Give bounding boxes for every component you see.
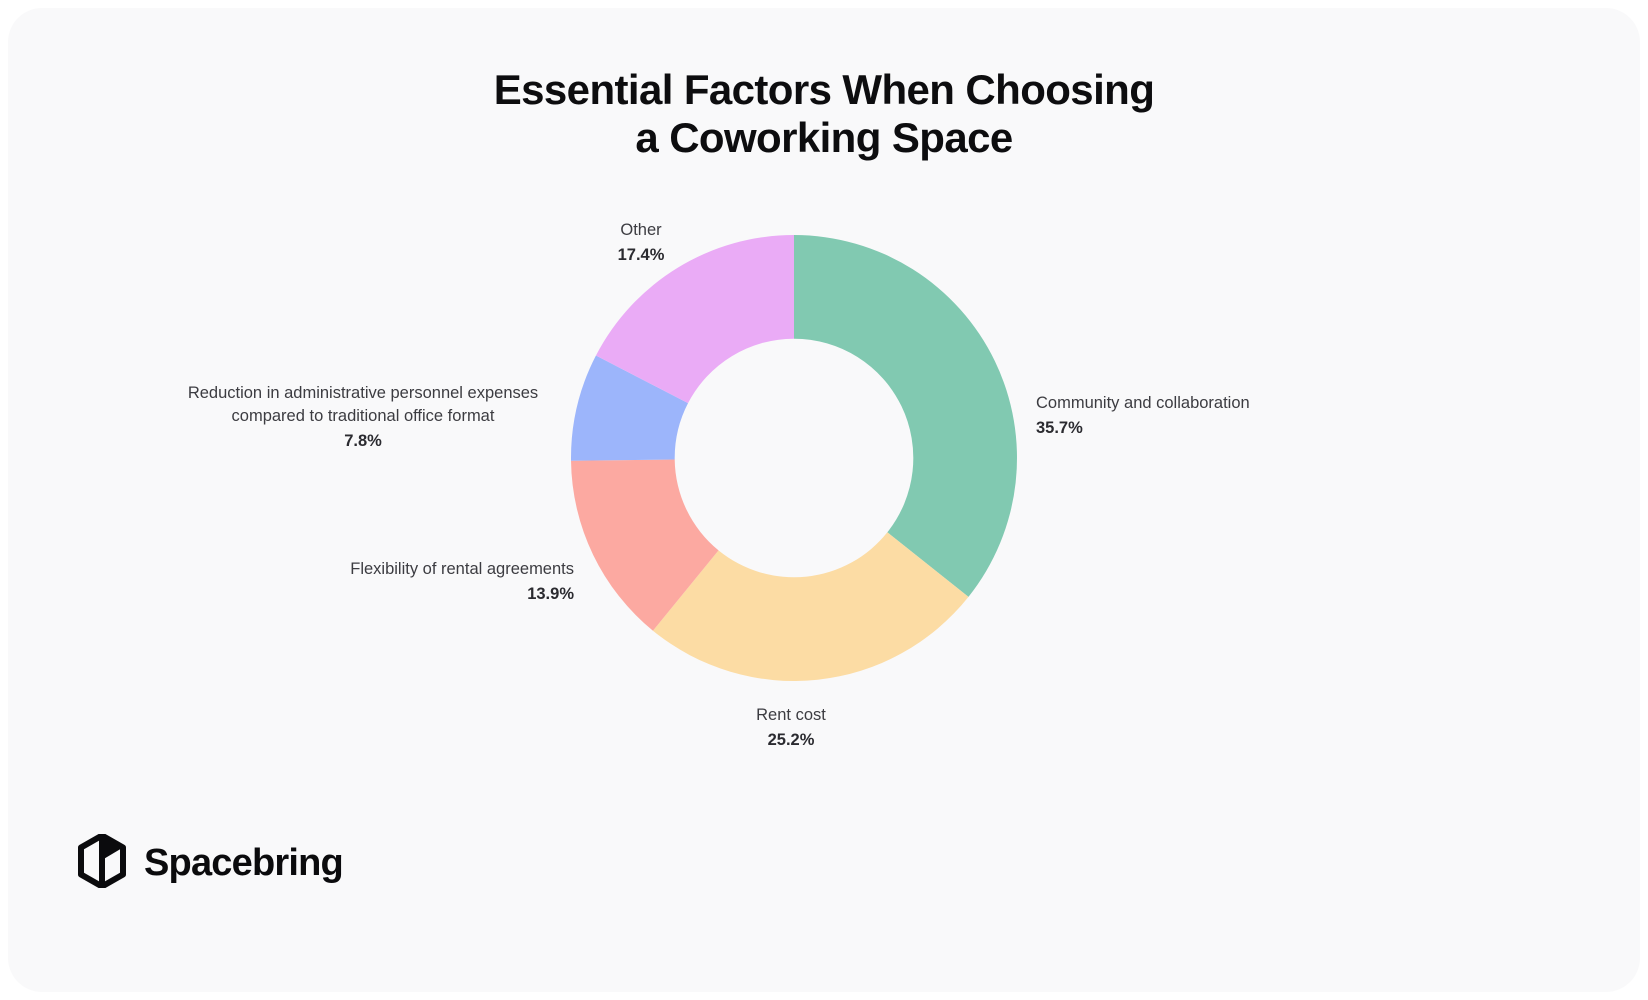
slice-label-rent-name: Rent cost: [660, 704, 922, 727]
slice-label-reduction-pct: 7.8%: [174, 430, 552, 453]
brand-name: Spacebring: [144, 842, 343, 885]
slice-label-flexibility-name: Flexibility of rental agreements: [244, 558, 574, 581]
slice-label-community-name: Community and collaboration: [1036, 392, 1336, 415]
slice-label-other: Other 17.4%: [520, 219, 762, 267]
donut-chart: [564, 228, 1024, 688]
slice-label-reduction: Reduction in administrative personnel ex…: [174, 382, 552, 453]
title-line-1: Essential Factors When Choosing: [8, 66, 1640, 114]
slice-label-rent: Rent cost 25.2%: [660, 704, 922, 752]
brand-lockup: Spacebring: [78, 834, 343, 893]
page-title: Essential Factors When Choosing a Cowork…: [8, 66, 1640, 162]
donut-chart-svg: [564, 228, 1024, 688]
slice-label-flexibility-pct: 13.9%: [244, 583, 574, 606]
slice-label-other-name: Other: [520, 219, 762, 242]
slice-label-community-pct: 35.7%: [1036, 417, 1336, 440]
slice-label-rent-pct: 25.2%: [660, 729, 922, 752]
slice-label-reduction-line1: Reduction in administrative personnel ex…: [174, 382, 552, 405]
spacebring-cube-icon-svg: [78, 834, 126, 888]
infographic-card: Essential Factors When Choosing a Cowork…: [8, 8, 1640, 992]
slice-label-other-pct: 17.4%: [520, 244, 762, 267]
slice-label-flexibility: Flexibility of rental agreements 13.9%: [244, 558, 574, 606]
slice-label-reduction-line2: compared to traditional office format: [174, 405, 552, 428]
donut-slice-community[interactable]: [794, 235, 1017, 597]
slice-label-community: Community and collaboration 35.7%: [1036, 392, 1336, 440]
title-line-2: a Coworking Space: [8, 114, 1640, 162]
spacebring-cube-icon: [78, 834, 126, 893]
